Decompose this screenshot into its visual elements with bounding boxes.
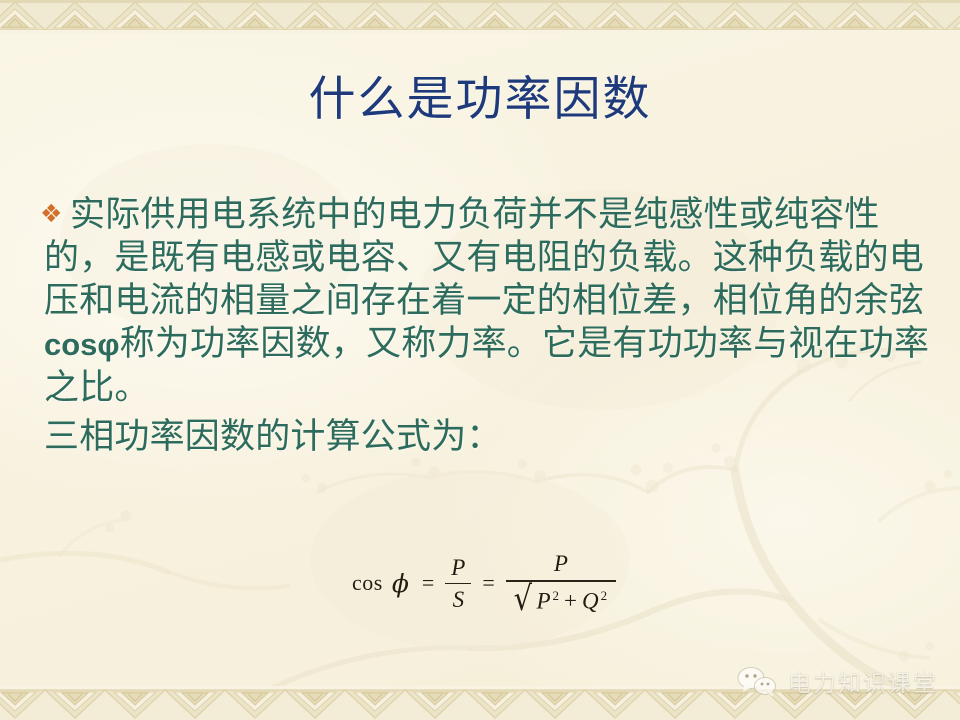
border-pattern-bottom: [0, 686, 960, 720]
slide-title: 什么是功率因数: [0, 74, 960, 127]
formula-equals-2: =: [482, 570, 494, 596]
radical-exponent-q: 2: [601, 588, 608, 603]
radical-term-q: Q: [582, 588, 599, 613]
formula-cos-label: cos: [352, 570, 383, 596]
formula-fraction-p-over-s: P S: [445, 556, 471, 612]
border-pattern-top: [0, 0, 960, 34]
radical-exponent-p: 2: [553, 588, 560, 603]
slide-canvas: 什么是功率因数 ❖实际供用电系统中的电力负荷并不是纯感性或纯容性的，是既有电感或…: [0, 0, 960, 720]
formula-denominator-s: S: [447, 584, 471, 611]
formula-numerator-p2: P: [548, 552, 574, 580]
radical-sign-icon: √: [513, 586, 531, 614]
diamond-bullet-icon: ❖: [14, 201, 63, 226]
top-decorative-border: [0, 0, 960, 34]
formula-square-root: √ P2+Q2: [512, 586, 610, 615]
formula-denominator-radical: √ P2+Q2: [506, 582, 616, 615]
body-content: ❖实际供用电系统中的电力负荷并不是纯感性或纯容性的，是既有电感或电容、又有电阻的…: [14, 193, 948, 458]
radical-contents: P2+Q2: [532, 587, 610, 613]
bullet-paragraph: ❖实际供用电系统中的电力负荷并不是纯感性或纯容性的，是既有电感或电容、又有电阻的…: [14, 193, 948, 409]
formula-numerator-p: P: [445, 556, 471, 583]
formula-equals-1: =: [422, 570, 434, 596]
formula-fraction-p-over-root: P √ P2+Q2: [506, 552, 616, 615]
formula-phi-symbol: ϕ: [392, 569, 409, 598]
radical-plus-sign: +: [564, 588, 577, 613]
radical-term-p: P: [536, 588, 550, 613]
cos-phi-inline: cosφ: [44, 327, 120, 362]
formula-intro-paragraph: 三相功率因数的计算公式为：: [14, 415, 948, 458]
power-factor-formula: cos ϕ = P S = P √ P2+Q2: [352, 552, 616, 615]
paragraph-text-part1: 实际供用电系统中的电力负荷并不是纯感性或纯容性的，是既有电感或电容、又有电阻的负…: [44, 195, 924, 320]
bottom-decorative-border: [0, 686, 960, 720]
paragraph-text-part2: 称为功率因数，又称力率。它是有功功率与视在功率之比。: [44, 324, 929, 407]
